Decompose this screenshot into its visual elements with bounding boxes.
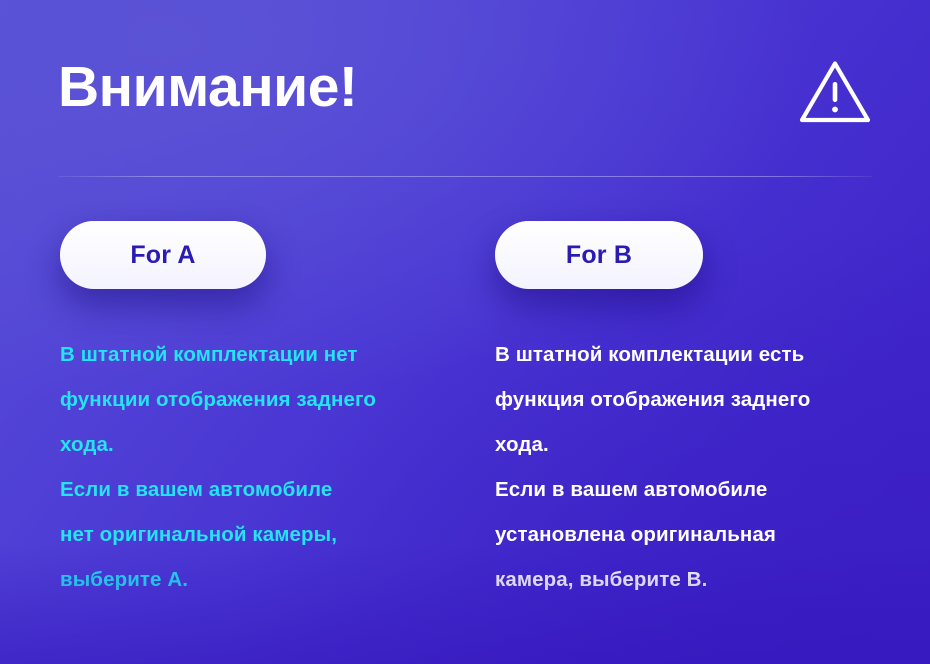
option-column-a: For A В штатной комплектации нет функции… xyxy=(60,221,460,602)
option-a-line: хода. xyxy=(60,422,452,467)
option-b-line: функция отображения заднего xyxy=(495,377,887,422)
option-a-pill-label: For A xyxy=(130,241,195,270)
warning-triangle-icon xyxy=(798,58,872,126)
option-b-line: Если в вашем автомобиле xyxy=(495,467,887,512)
poster-header: Внимание! xyxy=(58,52,874,144)
option-a-pill[interactable]: For A xyxy=(60,221,266,289)
option-b-line: установлена оригинальная xyxy=(495,512,887,557)
option-a-line: В штатной комплектации нет xyxy=(60,332,452,377)
option-b-line: камера, выберите B. xyxy=(495,557,887,602)
option-a-line: Если в вашем автомобиле xyxy=(60,467,452,512)
option-b-description: В штатной комплектации есть функция отоб… xyxy=(495,332,887,602)
option-a-line: нет оригинальной камеры, xyxy=(60,512,452,557)
option-b-pill-label: For B xyxy=(566,241,632,270)
option-b-line: хода. xyxy=(495,422,887,467)
option-a-description: В штатной комплектации нет функции отобр… xyxy=(60,332,452,602)
option-columns: For A В штатной комплектации нет функции… xyxy=(0,221,930,641)
header-divider xyxy=(58,176,872,177)
option-b-pill[interactable]: For B xyxy=(495,221,703,289)
option-column-b: For B В штатной комплектации есть функци… xyxy=(495,221,895,602)
warning-poster: Внимание! For A В штатной комплектации н… xyxy=(0,0,930,664)
option-a-line: выберите A. xyxy=(60,557,452,602)
option-a-line: функции отображения заднего xyxy=(60,377,452,422)
option-b-line: В штатной комплектации есть xyxy=(495,332,887,377)
page-title: Внимание! xyxy=(58,52,874,122)
